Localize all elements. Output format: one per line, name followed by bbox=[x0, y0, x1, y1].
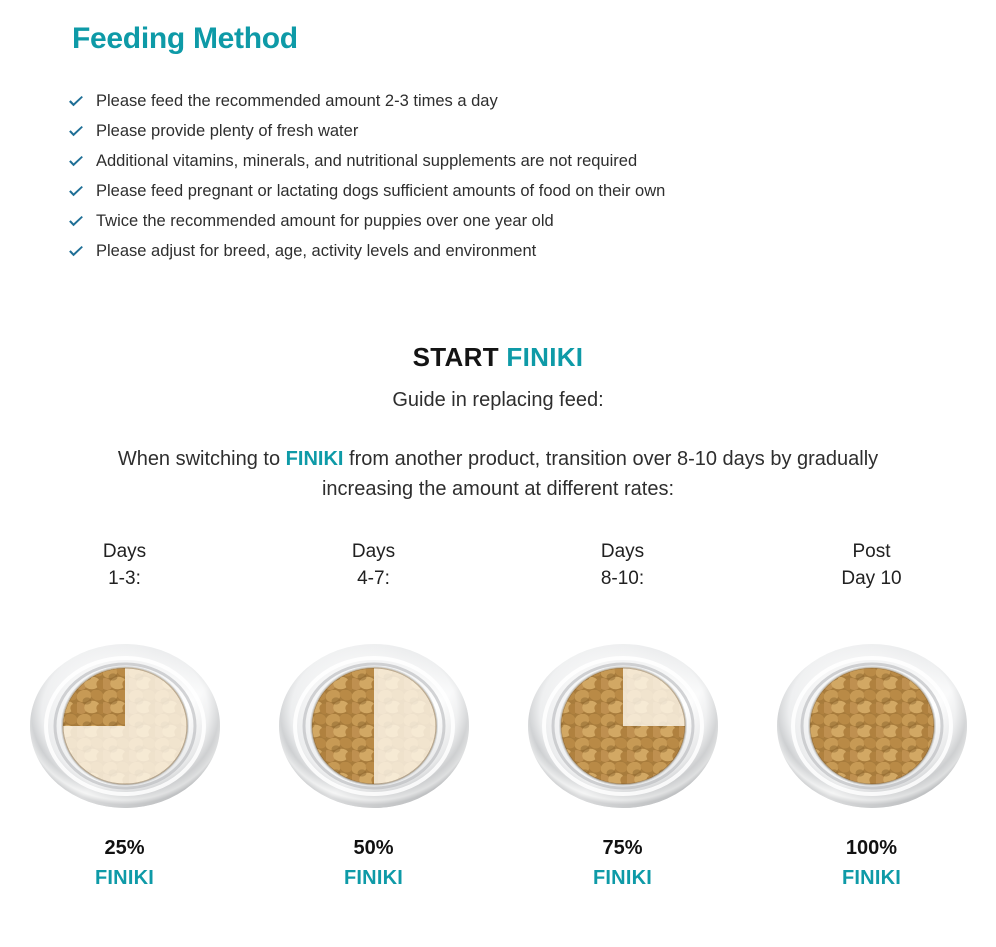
list-item-label: Please feed the recommended amount 2-3 t… bbox=[96, 86, 498, 116]
check-icon bbox=[68, 206, 96, 236]
stage-day-label: Post Day 10 bbox=[841, 538, 901, 592]
transition-paragraph: When switching to FINIKI from another pr… bbox=[88, 444, 908, 504]
stage-brand-label: FINIKI bbox=[842, 865, 901, 891]
list-item: Please adjust for breed, age, activity l… bbox=[68, 236, 928, 266]
dog-bowl-icon bbox=[772, 642, 972, 810]
dog-bowl-icon bbox=[523, 642, 723, 810]
stage-percent: 100% bbox=[846, 835, 897, 861]
stage-column: Post Day 10 100% FINIKI bbox=[747, 538, 996, 891]
paragraph-text-before: When switching to bbox=[118, 448, 286, 470]
stage-column: Days 8-10: 75% FINIKI bbox=[498, 538, 747, 891]
list-item: Additional vitamins, minerals, and nutri… bbox=[68, 146, 928, 176]
paragraph-text-after: from another product, transition over 8-… bbox=[322, 448, 878, 500]
start-finiki-section: START FINIKI Guide in replacing feed: Wh… bbox=[0, 340, 996, 504]
stage-column: Days 4-7: 50% FINIKI bbox=[249, 538, 498, 891]
stage-percent: 25% bbox=[104, 835, 144, 861]
stage-day-label: Days 8-10: bbox=[601, 538, 644, 592]
list-item: Please provide plenty of fresh water bbox=[68, 116, 928, 146]
stage-brand-label: FINIKI bbox=[593, 865, 652, 891]
page-title: Feeding Method bbox=[72, 22, 298, 56]
dog-bowl-icon bbox=[274, 642, 474, 810]
dog-bowl-icon bbox=[25, 642, 225, 810]
list-item-label: Please provide plenty of fresh water bbox=[96, 116, 358, 146]
bowl-50-percent bbox=[274, 642, 474, 810]
list-item: Twice the recommended amount for puppies… bbox=[68, 206, 928, 236]
list-item-label: Twice the recommended amount for puppies… bbox=[96, 206, 554, 236]
stage-column: Days 1-3: bbox=[0, 538, 249, 891]
list-item-label: Additional vitamins, minerals, and nutri… bbox=[96, 146, 637, 176]
feeding-tips-list: Please feed the recommended amount 2-3 t… bbox=[68, 86, 928, 266]
check-icon bbox=[68, 146, 96, 176]
bowl-25-percent bbox=[25, 642, 225, 810]
list-item: Please feed pregnant or lactating dogs s… bbox=[68, 176, 928, 206]
check-icon bbox=[68, 236, 96, 266]
stage-brand-label: FINIKI bbox=[344, 865, 403, 891]
start-heading-prefix: START bbox=[413, 342, 499, 372]
list-item-label: Please adjust for breed, age, activity l… bbox=[96, 236, 536, 266]
stage-percent: 50% bbox=[353, 835, 393, 861]
stage-day-label: Days 4-7: bbox=[352, 538, 395, 592]
list-item: Please feed the recommended amount 2-3 t… bbox=[68, 86, 928, 116]
check-icon bbox=[68, 176, 96, 206]
check-icon bbox=[68, 86, 96, 116]
list-item-label: Please feed pregnant or lactating dogs s… bbox=[96, 176, 665, 206]
stage-percent: 75% bbox=[602, 835, 642, 861]
transition-stages: Days 1-3: bbox=[0, 538, 996, 891]
stage-brand-label: FINIKI bbox=[95, 865, 154, 891]
bowl-75-percent bbox=[523, 642, 723, 810]
start-heading: START FINIKI bbox=[0, 340, 996, 374]
stage-day-label: Days 1-3: bbox=[103, 538, 146, 592]
bowl-100-percent bbox=[772, 642, 972, 810]
start-subtitle: Guide in replacing feed: bbox=[0, 386, 996, 414]
check-icon bbox=[68, 116, 96, 146]
start-heading-brand: FINIKI bbox=[506, 342, 583, 372]
paragraph-brand: FINIKI bbox=[286, 448, 344, 470]
